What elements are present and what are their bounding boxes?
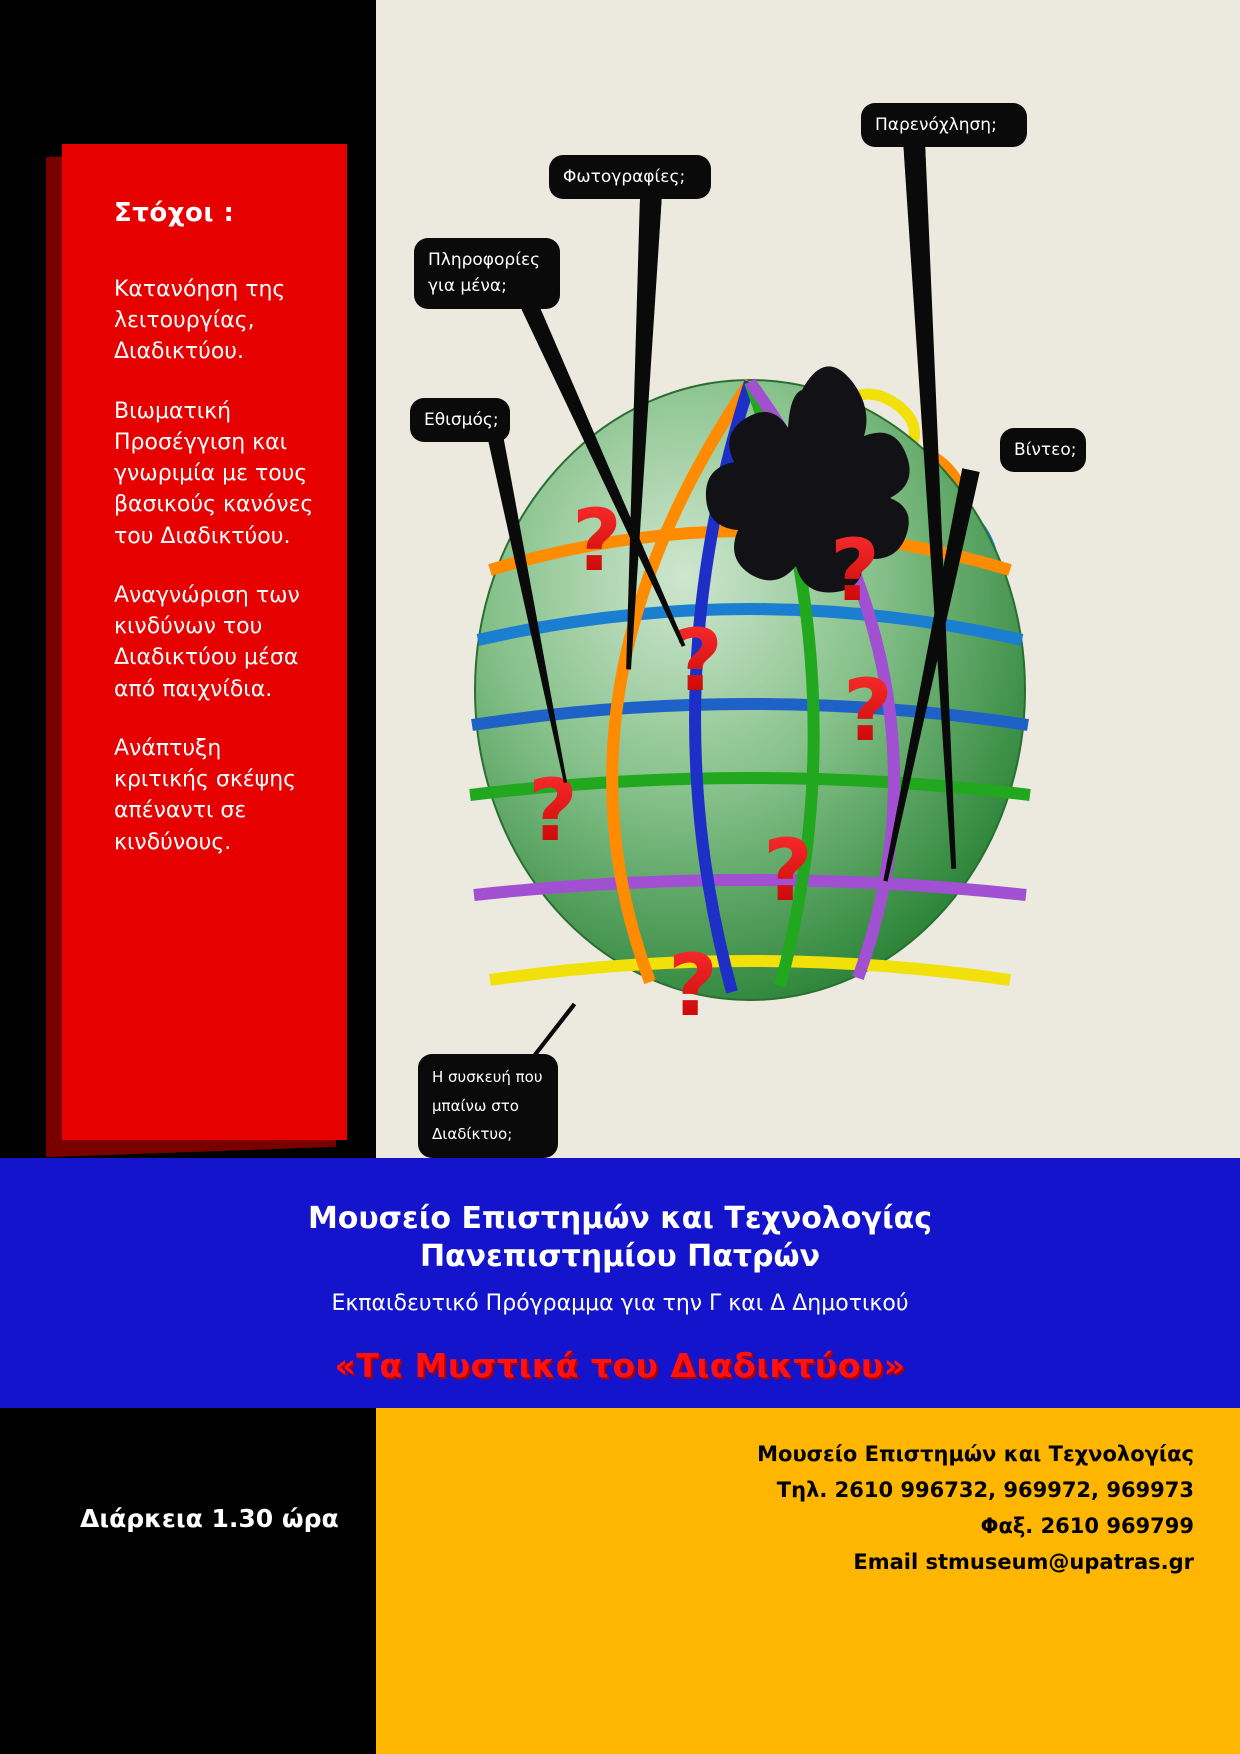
goals-panel: Στόχοι : Κατανόηση της λειτουργίας, Διαδ…: [62, 144, 347, 1140]
goal-item: Αναγνώριση των κινδύνων του Διαδικτύου μ…: [114, 580, 317, 705]
goal-item: Κατανόηση της λειτουργίας, Διαδικτύου.: [114, 274, 317, 368]
bubble-fotografies[interactable]: Φωτογραφίες;: [549, 155, 711, 199]
duration-label: Διάρκεια 1.30 ώρα: [80, 1504, 339, 1533]
top-area: ? ? ? ? ? ? ? Εθισμός; Πληροφορίες για μ…: [0, 0, 1240, 1158]
bubble-vinteo[interactable]: Βίντεο;: [1000, 428, 1086, 472]
globe-question-mark: ?: [528, 761, 578, 861]
bubble-syskevi[interactable]: Η συσκευή που μπαίνω στο Διαδίκτυο;: [418, 1054, 558, 1158]
contact-box: Μουσείο Επιστημών και Τεχνολογίας Τηλ. 2…: [376, 1408, 1240, 1754]
program-title: «Τα Μυστικά του Διαδικτύου»: [0, 1346, 1240, 1385]
globe-question-mark: ?: [572, 491, 622, 591]
program-audience: Εκπαιδευτικό Πρόγραμμα για την Γ και Δ Δ…: [0, 1291, 1240, 1316]
bubble-parenochlisi[interactable]: Παρενόχληση;: [861, 103, 1027, 147]
globe-question-mark: ?: [763, 821, 813, 921]
footer-blue-band: Μουσείο Επιστημών και Τεχνολογίας Πανεπι…: [0, 1158, 1240, 1408]
globe-question-mark: ?: [668, 936, 718, 1036]
bottom-row: Διάρκεια 1.30 ώρα Μουσείο Επιστημών και …: [0, 1408, 1240, 1754]
globe-question-mark: ?: [843, 661, 893, 761]
museum-name-line2: Πανεπιστημίου Πατρών: [0, 1238, 1240, 1276]
globe-question-mark: ?: [830, 521, 880, 621]
goal-item: Βιωματική Προσέγγιση και γνωριμία με του…: [114, 396, 317, 552]
globe-question-mark: ?: [673, 611, 723, 711]
contact-phone: Τηλ. 2610 996732, 969972, 969973: [376, 1472, 1194, 1508]
globe-illustration: ? ? ? ? ? ? ?: [400, 270, 1100, 1070]
goals-title: Στόχοι :: [114, 198, 317, 228]
poster-root: ? ? ? ? ? ? ? Εθισμός; Πληροφορίες για μ…: [0, 0, 1240, 1754]
bubble-plirofories[interactable]: Πληροφορίες για μένα;: [414, 238, 560, 309]
museum-name-line1: Μουσείο Επιστημών και Τεχνολογίας: [0, 1200, 1240, 1238]
contact-fax: Φαξ. 2610 969799: [376, 1508, 1194, 1544]
goal-item: Ανάπτυξη κριτικής σκέψης απέναντι σε κιν…: [114, 733, 317, 858]
bubble-ethismos[interactable]: Εθισμός;: [410, 398, 510, 442]
contact-museum: Μουσείο Επιστημών και Τεχνολογίας: [376, 1436, 1194, 1472]
contact-email[interactable]: Email stmuseum@upatras.gr: [376, 1544, 1194, 1580]
